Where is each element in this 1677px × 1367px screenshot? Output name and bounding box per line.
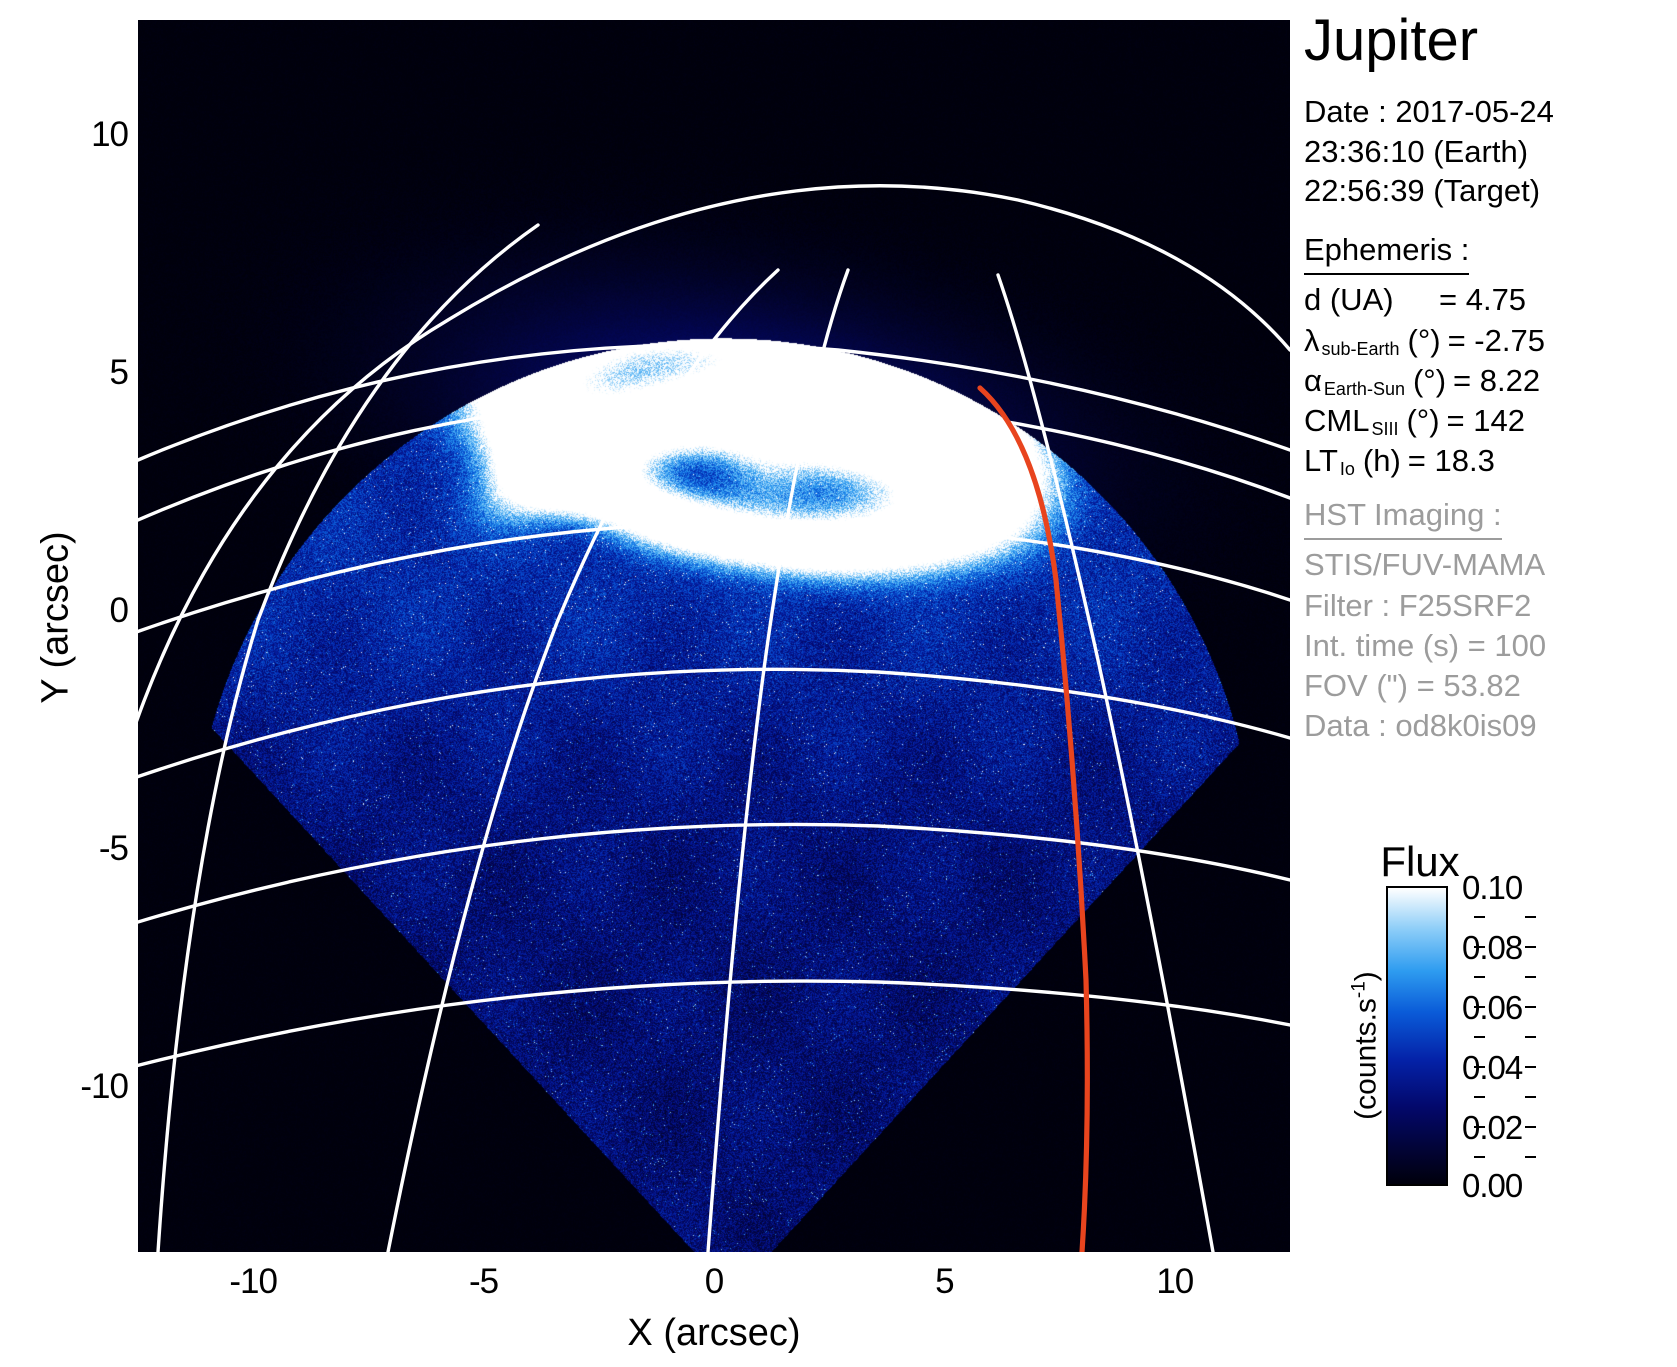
- latitude-line-6: [138, 981, 1290, 1068]
- hst-data-id: Data : od8k0is09: [1304, 706, 1546, 746]
- ephemeris-value: = 4.75: [1432, 280, 1526, 320]
- colorbar-gradient: [1386, 886, 1448, 1186]
- ephemeris-label: d (UA): [1304, 280, 1432, 320]
- colorbar-unit-label: (counts.s-1): [1349, 916, 1384, 1176]
- colorbar-unit-text: (counts.s: [1350, 998, 1383, 1120]
- ephemeris-block: Ephemeris : d (UA) = 4.75 λ sub-Earth (°…: [1304, 230, 1545, 482]
- ephemeris-row-cml: CML SIII (°) = 142: [1304, 401, 1545, 441]
- time-earth-line: 23:36:10 (Earth): [1304, 132, 1554, 172]
- ephemeris-label: LT: [1304, 441, 1338, 481]
- hst-filter: Filter : F25SRF2: [1304, 586, 1546, 626]
- colorbar-tick-0: 0.10: [1462, 869, 1522, 907]
- colorbar-tick-3: 0.04: [1462, 1049, 1522, 1087]
- latitude-line-5: [138, 824, 1290, 925]
- x-axis-ticks: -10 -5 0 5 10: [138, 1262, 1290, 1310]
- hst-heading: HST Imaging :: [1304, 495, 1502, 540]
- colorbar-tick-5: 0.00: [1462, 1167, 1522, 1205]
- ephemeris-value: = 18.3: [1401, 441, 1495, 481]
- ephemeris-label: α: [1304, 361, 1322, 401]
- ephemeris-label: CML: [1304, 401, 1369, 441]
- coordinate-grid-overlay: [138, 20, 1290, 1252]
- longitude-meridian-4: [998, 275, 1213, 1252]
- ephemeris-value: = -2.75: [1441, 321, 1545, 361]
- y-tick-1: 5: [110, 353, 128, 393]
- y-tick-4: -10: [80, 1067, 128, 1107]
- ephemeris-unit: (°): [1405, 361, 1446, 401]
- ephemeris-heading: Ephemeris :: [1304, 230, 1469, 275]
- hst-fov: FOV (") = 53.82: [1304, 666, 1546, 706]
- date-line: Date : 2017-05-24: [1304, 92, 1554, 132]
- ephemeris-value: = 8.22: [1446, 361, 1540, 401]
- ephemeris-subscript: Io: [1338, 458, 1355, 481]
- observation-date-block: Date : 2017-05-24 23:36:10 (Earth) 22:56…: [1304, 92, 1554, 211]
- latitude-line-3: [138, 522, 1290, 635]
- latitude-line-4: [138, 669, 1290, 780]
- page-title: Jupiter: [1304, 12, 1478, 70]
- x-axis-label: X (arcsec): [138, 1312, 1290, 1355]
- y-tick-2: 0: [110, 591, 128, 631]
- planet-limb: [138, 186, 1290, 740]
- colorbar-unit-exponent: -1: [1349, 981, 1370, 998]
- ephemeris-row-io-local-time: LT Io (h) = 18.3: [1304, 441, 1545, 481]
- ephemeris-subscript: sub-Earth: [1320, 338, 1400, 361]
- x-tick-2: 0: [705, 1262, 723, 1302]
- ephemeris-unit: (h): [1355, 441, 1401, 481]
- io-footprint-track: [980, 388, 1087, 1252]
- hst-int-time: Int. time (s) = 100: [1304, 626, 1546, 666]
- ephemeris-subscript: Earth-Sun: [1322, 378, 1405, 401]
- ephemeris-subscript: SIII: [1369, 418, 1398, 441]
- x-tick-4: 10: [1156, 1262, 1193, 1302]
- ephemeris-row-phase-angle: α Earth-Sun (°) = 8.22: [1304, 361, 1545, 401]
- info-panel: Jupiter Date : 2017-05-24 23:36:10 (Eart…: [1300, 0, 1677, 820]
- ephemeris-row-sub-earth-latitude: λ sub-Earth (°) = -2.75: [1304, 321, 1545, 361]
- ephemeris-unit: (°): [1400, 321, 1441, 361]
- colorbar-tick-1: 0.08: [1462, 929, 1522, 967]
- colorbar-unit-paren: ): [1350, 971, 1383, 981]
- hst-imaging-block: HST Imaging : STIS/FUV-MAMA Filter : F25…: [1304, 495, 1546, 747]
- longitude-meridian-3: [708, 270, 848, 1252]
- ephemeris-value: = 142: [1440, 401, 1525, 441]
- colorbar: Flux (counts.s-1) 0.10 0.08 0.06 0.04 0.…: [1300, 838, 1677, 1210]
- ephemeris-label: λ: [1304, 321, 1320, 361]
- latitude-line-1: [138, 345, 1290, 460]
- ephemeris-unit: (°): [1398, 401, 1439, 441]
- colorbar-tick-4: 0.02: [1462, 1109, 1522, 1147]
- y-axis-label: Y (arcsec): [35, 2, 78, 1234]
- x-tick-3: 5: [935, 1262, 953, 1302]
- x-tick-1: -5: [469, 1262, 498, 1302]
- y-tick-3: -5: [99, 829, 128, 869]
- longitude-meridian-1: [158, 225, 538, 1252]
- ephemeris-row-distance: d (UA) = 4.75: [1304, 280, 1545, 320]
- time-target-line: 22:56:39 (Target): [1304, 171, 1554, 211]
- hst-instrument: STIS/FUV-MAMA: [1304, 545, 1546, 585]
- y-tick-0: 10: [91, 115, 128, 155]
- aurora-image-plot: [138, 20, 1290, 1252]
- colorbar-tick-2: 0.06: [1462, 989, 1522, 1027]
- x-tick-0: -10: [229, 1262, 277, 1302]
